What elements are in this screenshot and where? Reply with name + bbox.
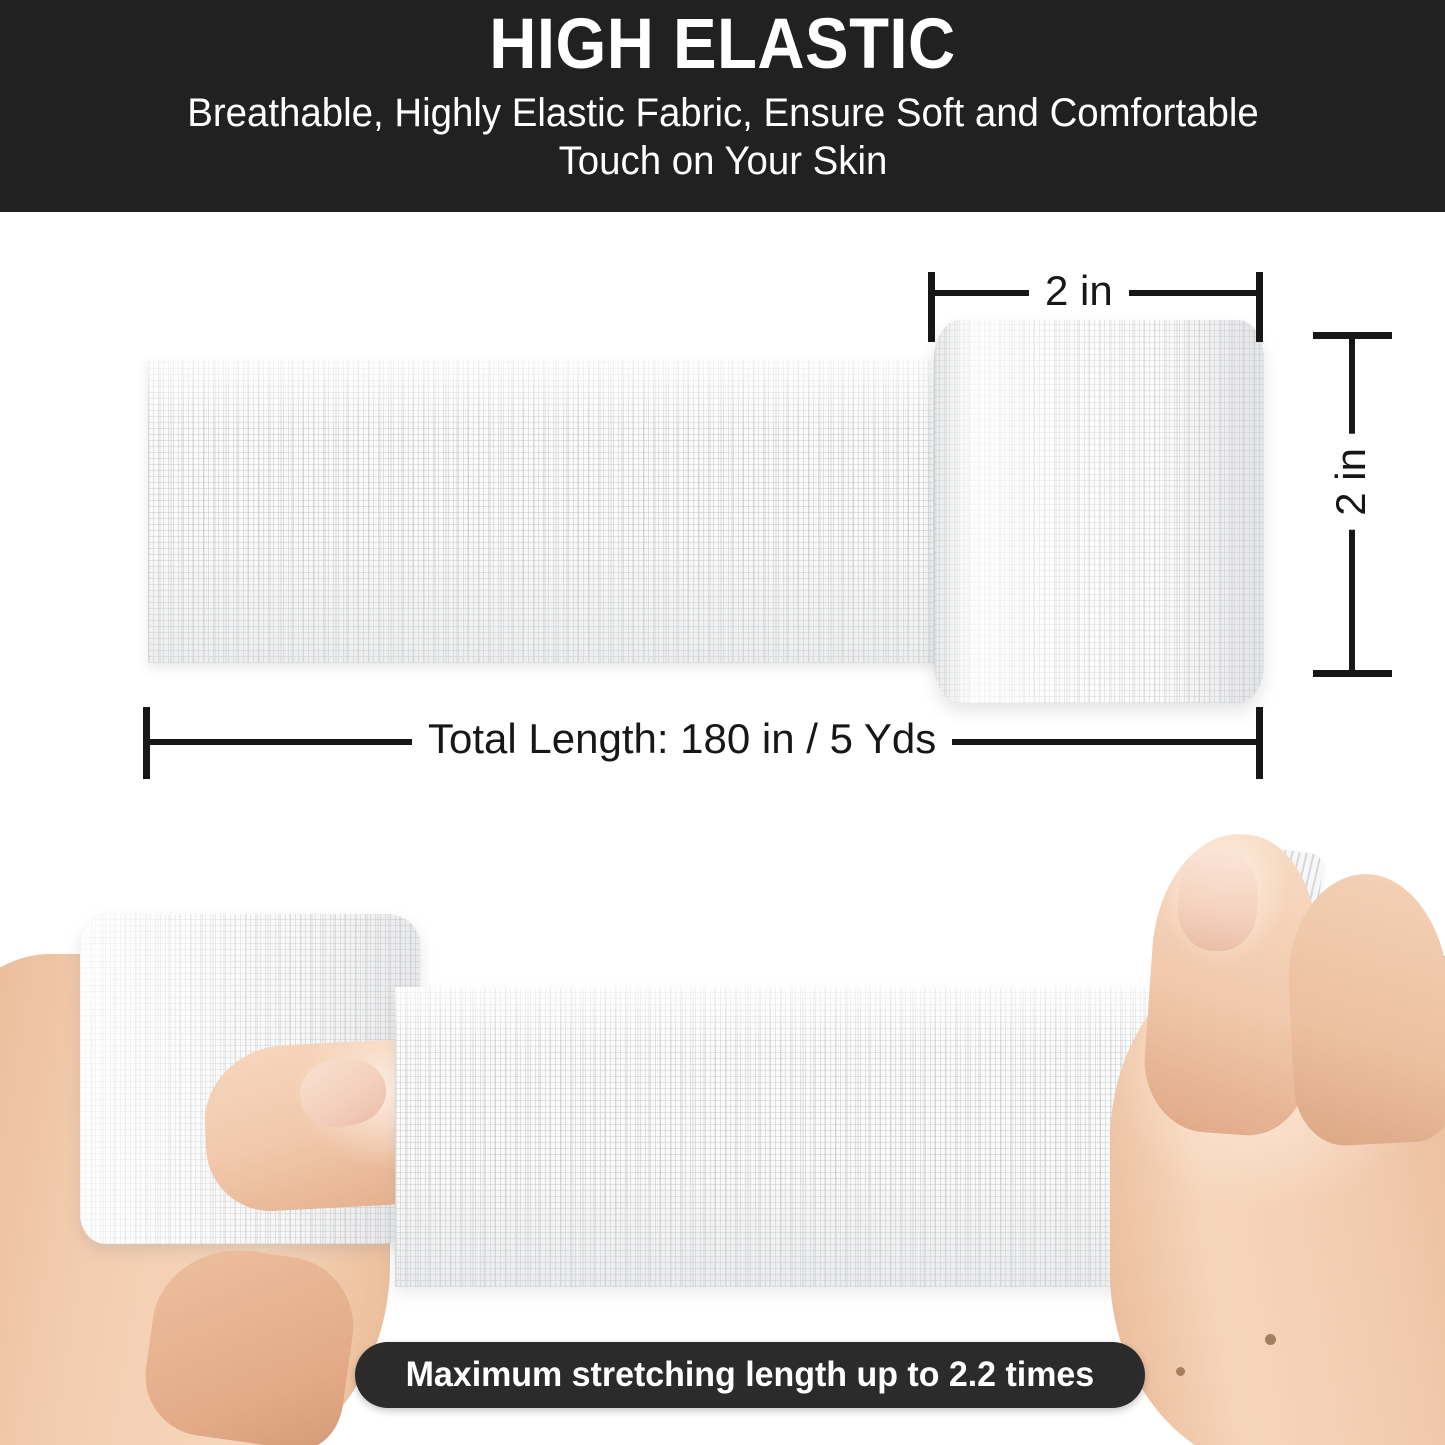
header-banner: HIGH ELASTIC Breathable, Highly Elastic … [0, 0, 1445, 212]
stretch-caption-pill: Maximum stretching length up to 2.2 time… [355, 1342, 1145, 1408]
total-length-label: Total Length: 180 in / 5 Yds [412, 718, 952, 760]
skin-mole [1176, 1367, 1185, 1376]
product-infographic: HIGH ELASTIC Breathable, Highly Elastic … [0, 0, 1445, 1445]
banner-title: HIGH ELASTIC [489, 8, 955, 83]
product-dimensions-scene: 2 in 2 in Total Length: 180 in / 5 Yds [0, 212, 1445, 822]
bandage-stretched-band [395, 987, 1185, 1287]
right-index-finger [1283, 870, 1445, 1148]
width-dimension-cap-left [928, 272, 935, 342]
bandage-flat-strip [148, 360, 948, 663]
banner-subtitle: Breathable, Highly Elastic Fabric, Ensur… [180, 89, 1265, 187]
width-dimension-label: 2 in [1029, 270, 1129, 312]
width-dimension-cap-right [1256, 272, 1263, 342]
bandage-roll [934, 320, 1264, 703]
stretch-caption-text: Maximum stretching length up to 2.2 time… [406, 1355, 1095, 1395]
height-dimension-label: 2 in [1330, 434, 1372, 530]
skin-mole [1265, 1334, 1276, 1345]
